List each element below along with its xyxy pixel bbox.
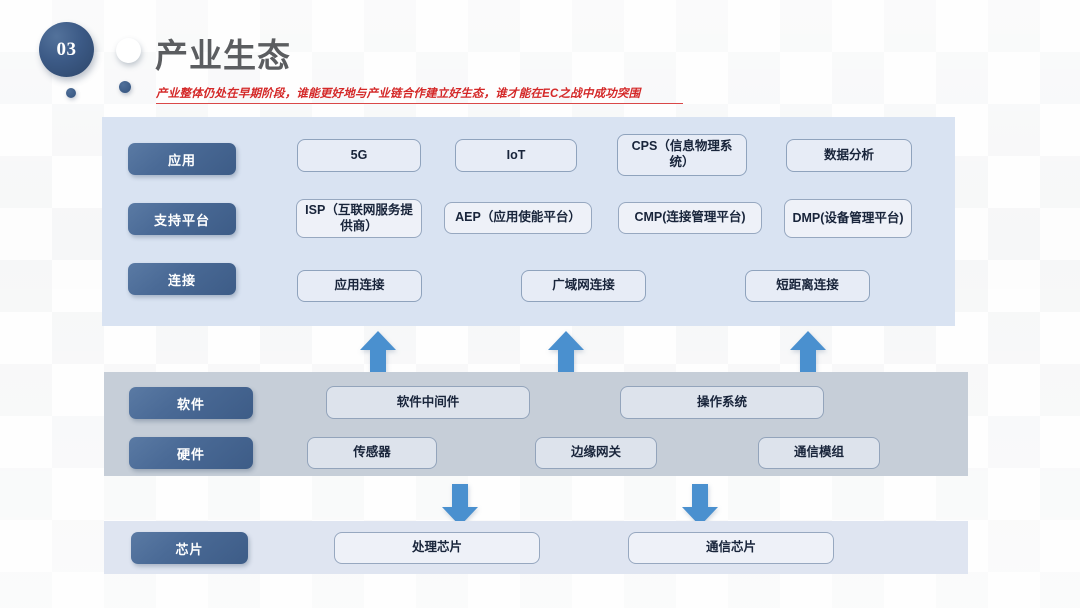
down-arrow-2 bbox=[682, 484, 718, 526]
decorative-white-circle bbox=[116, 38, 141, 63]
row-label-connection: 连接 bbox=[128, 263, 236, 295]
section-number-badge: 03 bbox=[39, 22, 94, 77]
box-edge-gateway[interactable]: 边缘网关 bbox=[535, 437, 657, 469]
slide-header: 03 产业生态 产业整体仍处在早期阶段，谁能更好地与产业链合作建立好生态，谁才能… bbox=[0, 0, 1080, 112]
row-label-software: 软件 bbox=[129, 387, 253, 419]
box-cmp[interactable]: CMP(连接管理平台) bbox=[618, 202, 762, 234]
box-dmp[interactable]: DMP(设备管理平台) bbox=[784, 199, 912, 238]
up-arrow-2 bbox=[548, 331, 584, 373]
box-communication-chip[interactable]: 通信芯片 bbox=[628, 532, 834, 564]
up-arrow-1 bbox=[360, 331, 396, 373]
subtitle-underline bbox=[156, 103, 683, 104]
row-label-application: 应用 bbox=[128, 143, 236, 175]
decorative-blue-dot-small bbox=[66, 88, 76, 98]
box-operating-system[interactable]: 操作系统 bbox=[620, 386, 824, 419]
box-data-analysis[interactable]: 数据分析 bbox=[786, 139, 912, 172]
box-software-middleware[interactable]: 软件中间件 bbox=[326, 386, 530, 419]
box-sensor[interactable]: 传感器 bbox=[307, 437, 437, 469]
box-communication-module[interactable]: 通信模组 bbox=[758, 437, 880, 469]
box-application-connection[interactable]: 应用连接 bbox=[297, 270, 422, 302]
section-number-label: 03 bbox=[57, 39, 77, 61]
box-wan-connection[interactable]: 广域网连接 bbox=[521, 270, 646, 302]
box-isp[interactable]: ISP（互联网服务提供商） bbox=[296, 199, 422, 238]
down-arrow-1 bbox=[442, 484, 478, 526]
row-label-hardware: 硬件 bbox=[129, 437, 253, 469]
row-label-chip: 芯片 bbox=[131, 532, 248, 564]
box-iot[interactable]: IoT bbox=[455, 139, 577, 172]
up-arrow-3 bbox=[790, 331, 826, 373]
box-5g[interactable]: 5G bbox=[297, 139, 421, 172]
page-title: 产业生态 bbox=[155, 29, 291, 77]
box-aep[interactable]: AEP（应用使能平台） bbox=[444, 202, 592, 234]
box-cps[interactable]: CPS（信息物理系统） bbox=[617, 134, 747, 176]
box-short-range-connection[interactable]: 短距离连接 bbox=[745, 270, 870, 302]
page-subtitle: 产业整体仍处在早期阶段，谁能更好地与产业链合作建立好生态，谁才能在EC之战中成功… bbox=[156, 85, 640, 101]
box-processing-chip[interactable]: 处理芯片 bbox=[334, 532, 540, 564]
row-label-support-platform: 支持平台 bbox=[128, 203, 236, 235]
decorative-blue-dot-large bbox=[119, 81, 131, 93]
